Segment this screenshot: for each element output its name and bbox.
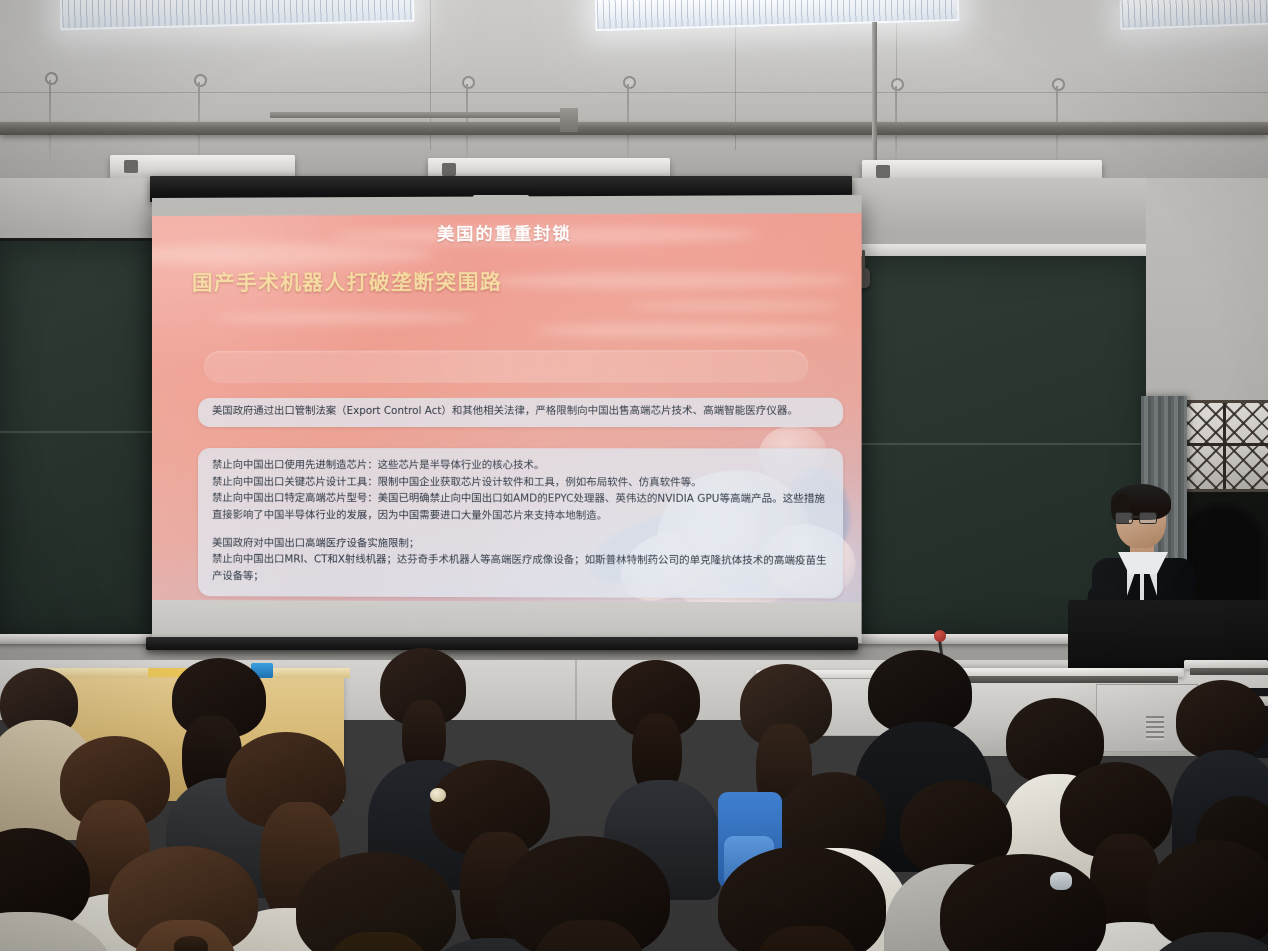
ceiling-hanger-cap — [45, 72, 58, 85]
board-midline — [853, 443, 1153, 445]
ceiling-seam — [0, 92, 1268, 93]
audience-hair — [1176, 680, 1268, 760]
board-midline — [0, 431, 157, 433]
decorative-cloud — [484, 272, 851, 289]
slide-title: 国产手术机器人打破垄断突围路 — [192, 265, 502, 296]
decorative-cloud — [152, 243, 433, 266]
ceiling-hanger-cap — [462, 76, 475, 89]
lecture-hall-photo: 国产手术机器人打破垄断突围路 美国的重重封锁 美国政府通过出口管制法案（Expo… — [0, 0, 1268, 951]
fixture-nub — [876, 165, 890, 178]
lattice-window — [1176, 400, 1268, 492]
ceiling-light-panel — [1120, 0, 1268, 30]
slide-body-line: 禁止向中国出口特定高端芯片型号：美国已明确禁止向中国出口如AMD的EPYC处理器… — [212, 490, 829, 525]
decorative-cloud — [535, 323, 841, 338]
hair-tie-icon — [174, 936, 208, 951]
glasses-icon — [1115, 512, 1159, 522]
hair-clip-icon — [430, 788, 446, 802]
window-mullion — [1223, 403, 1226, 489]
audience-seating — [0, 640, 1268, 951]
glasses-lens — [1115, 512, 1133, 524]
slide-body-line: 禁止向中国出口关键芯片设计工具：限制中国企业获取芯片设计软件和工具，例如布局软件… — [212, 474, 829, 492]
projector-screen: 国产手术机器人打破垄断突围路 美国的重重封锁 美国政府通过出口管制法案（Expo… — [152, 195, 862, 643]
ceiling-hanger-cap — [623, 76, 636, 89]
glasses-lens — [1139, 512, 1157, 524]
slide-body-textbox: 禁止向中国出口使用先进制造芯片：这些芯片是半导体行业的核心技术。 禁止向中国出口… — [198, 448, 843, 598]
slide-body-line: 禁止向中国出口MRI、CT和X射线机器；达芬奇手术机器人等高端医疗成像设备；如斯… — [212, 552, 829, 587]
glasses-bridge — [1131, 516, 1139, 518]
ceiling-hanger-cap — [1052, 78, 1065, 91]
blackboard-left — [0, 238, 160, 644]
ceiling-pipe-branch — [270, 112, 570, 118]
wall-conduit — [872, 22, 877, 182]
presentation-slide: 国产手术机器人打破垄断突围路 美国的重重封锁 美国政府通过出口管制法案（Expo… — [152, 213, 862, 602]
ceiling-pipe-branch — [560, 108, 578, 132]
ceiling-pipe — [0, 122, 1268, 135]
fixture-nub — [124, 160, 138, 173]
slide-intro-textbox: 美国政府通过出口管制法案（Export Control Act）和其他相关法律，… — [198, 398, 843, 427]
hair-tie-icon — [1050, 872, 1072, 890]
ceiling-hanger-rod — [49, 80, 51, 160]
slide-body-line: 美国政府对中国出口高端医疗设备实施限制； — [212, 535, 829, 553]
slide-subtitle-band — [204, 350, 808, 383]
fixture-nub — [442, 163, 456, 176]
slide-subtitle: 美国的重重封锁 — [152, 218, 862, 246]
ceiling-hanger-cap — [891, 78, 904, 91]
decorative-cloud — [626, 300, 841, 311]
decorative-cloud — [212, 311, 474, 324]
ceiling-hanger-cap — [194, 74, 207, 87]
slide-body-line: 禁止向中国出口使用先进制造芯片：这些芯片是半导体行业的核心技术。 — [212, 457, 829, 474]
board-frame-top — [848, 244, 1154, 256]
